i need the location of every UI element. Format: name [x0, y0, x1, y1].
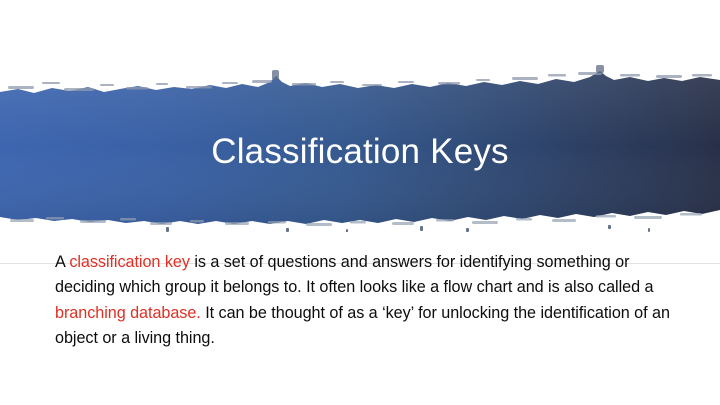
body-text-block: A classification key is a set of questio… — [55, 250, 680, 352]
body-paragraph: A classification key is a set of questio… — [55, 250, 680, 352]
slide: Classification Keys A classification key… — [0, 0, 720, 405]
body-segment-0: A — [55, 253, 69, 271]
body-accent-classification-key: classification key — [69, 253, 190, 271]
body-accent-branching-database: branching database. — [55, 304, 201, 322]
slide-title: Classification Keys — [0, 130, 720, 174]
paint-flecks — [166, 225, 650, 232]
